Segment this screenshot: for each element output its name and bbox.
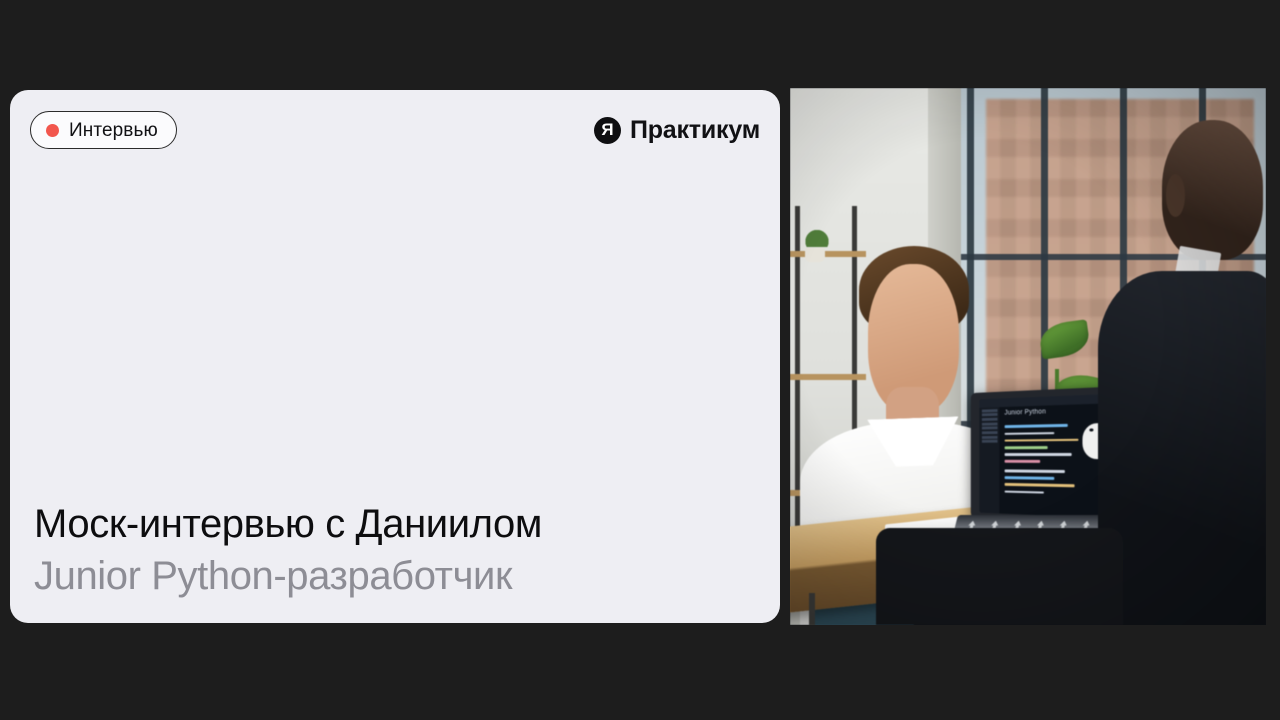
code-line (1005, 476, 1055, 479)
card-text-block: Моск-интервью с Даниилом Junior Python-р… (34, 502, 756, 599)
photo-scene: Junior Python (790, 88, 1266, 625)
office-chair (876, 528, 1124, 625)
code-line (1005, 438, 1079, 441)
code-line (1005, 460, 1041, 463)
brand-logo: Я Практикум (594, 117, 760, 144)
page-title: Моск-интервью с Даниилом (34, 502, 756, 547)
record-dot-icon (46, 124, 59, 137)
card-header: Интервью Я Практикум (10, 90, 780, 170)
yandex-logo-icon: Я (594, 117, 621, 144)
code-line (1005, 431, 1055, 434)
python-logo-eye (1089, 428, 1093, 431)
interview-photo: Junior Python (790, 88, 1266, 625)
code-line (1005, 446, 1048, 449)
code-line (1005, 469, 1065, 472)
interviewer-person (1114, 88, 1266, 625)
code-line (1005, 483, 1075, 487)
status-badge-label: Интервью (69, 121, 158, 140)
page-subtitle: Junior Python-разработчик (34, 554, 756, 599)
slide-root: Интервью Я Практикум Моск-интервью с Дан… (0, 0, 1280, 720)
interviewer-ear (1166, 174, 1185, 217)
code-line (1005, 453, 1072, 456)
ide-file-tree (980, 407, 1000, 513)
info-card: Интервью Я Практикум Моск-интервью с Дан… (10, 90, 780, 623)
status-badge[interactable]: Интервью (30, 111, 177, 149)
code-line (1005, 490, 1044, 494)
plant-leaf (1038, 319, 1091, 359)
brand-name: Практикум (630, 118, 760, 143)
ide-title-text: Junior Python (1005, 408, 1047, 416)
code-line (1005, 424, 1068, 428)
desk-leg (809, 593, 815, 625)
